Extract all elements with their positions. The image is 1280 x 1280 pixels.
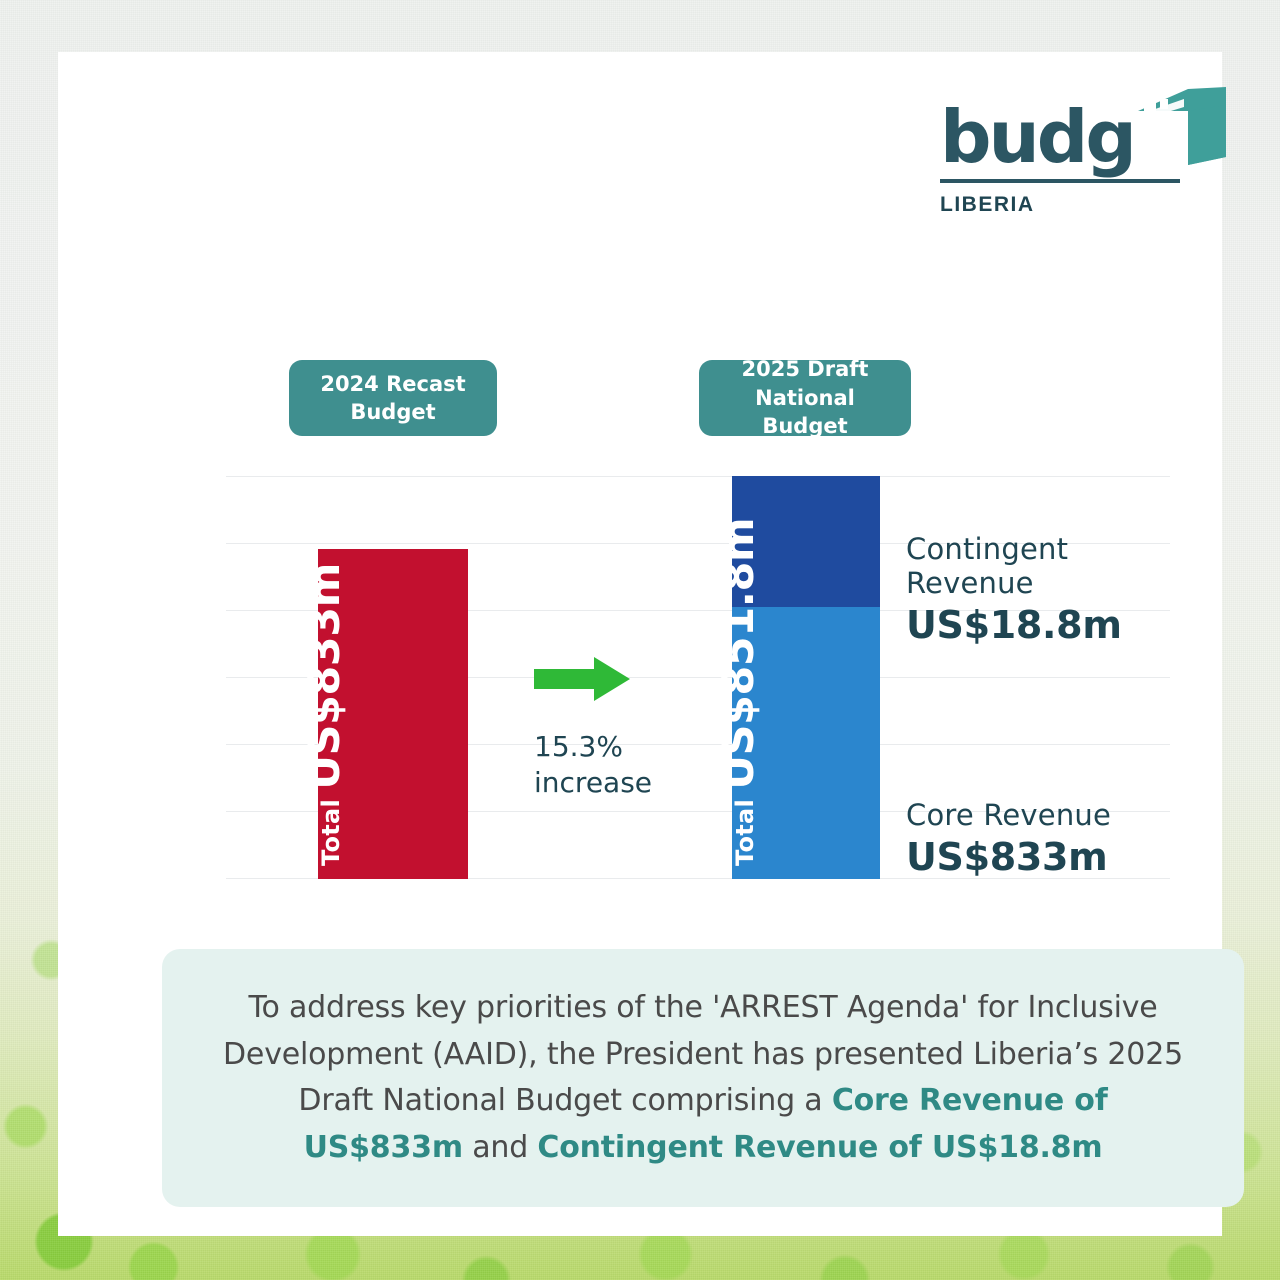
chip-2025-draft-budget: 2025 Draft National Budget <box>699 360 911 436</box>
bar-2025-total-word: Total <box>731 799 759 866</box>
logo-row: budg <box>940 90 1190 170</box>
chip-2025-label: 2025 Draft National Budget <box>713 355 897 440</box>
callout-contingent-revenue: Contingent Revenue US$18.8m <box>906 532 1170 647</box>
chip-2024-label: 2024 Recast Budget <box>320 370 465 427</box>
budgit-it-mark-icon <box>1136 87 1228 170</box>
poster-card: budg LIBERIA <box>58 52 1222 1236</box>
callout-core-revenue: Core Revenue US$833m <box>906 798 1111 879</box>
callout-core-title: Core Revenue <box>906 798 1111 832</box>
bar-2024-amount: US$833m <box>300 563 350 790</box>
logo-divider <box>940 179 1180 183</box>
caption-part-2: and <box>463 1130 538 1165</box>
logo-wordmark: budg <box>940 104 1134 170</box>
callout-contingent-title: Contingent Revenue <box>906 532 1170 600</box>
callout-core-value: US$833m <box>906 835 1111 879</box>
bar-2024-inline-label: Total US$833m <box>300 563 350 866</box>
budget-comparison-chart: Total US$833m Total US$851.8m 15.3% inc <box>226 476 1170 880</box>
bar-2025-inline-label: Total US$851.8m <box>714 518 764 866</box>
poster-background: budg LIBERIA <box>0 0 1280 1280</box>
increase-percentage-text: 15.3% increase <box>534 729 684 801</box>
caption-box: To address key priorities of the 'ARREST… <box>162 949 1244 1207</box>
callout-contingent-value: US$18.8m <box>906 603 1170 647</box>
bar-2025-amount: US$851.8m <box>714 518 764 790</box>
chip-2024-recast-budget: 2024 Recast Budget <box>289 360 497 436</box>
logo-country-label: LIBERIA <box>940 193 1190 217</box>
bar-2024-total-word: Total <box>317 799 345 866</box>
caption-highlight-contingent: Contingent Revenue of US$18.8m <box>537 1130 1102 1165</box>
green-right-arrow-icon <box>534 656 684 707</box>
gridline <box>226 476 1170 477</box>
caption-text: To address key priorities of the 'ARREST… <box>214 985 1192 1171</box>
budgit-logo: budg LIBERIA <box>940 90 1190 217</box>
increase-indicator: 15.3% increase <box>534 656 684 801</box>
